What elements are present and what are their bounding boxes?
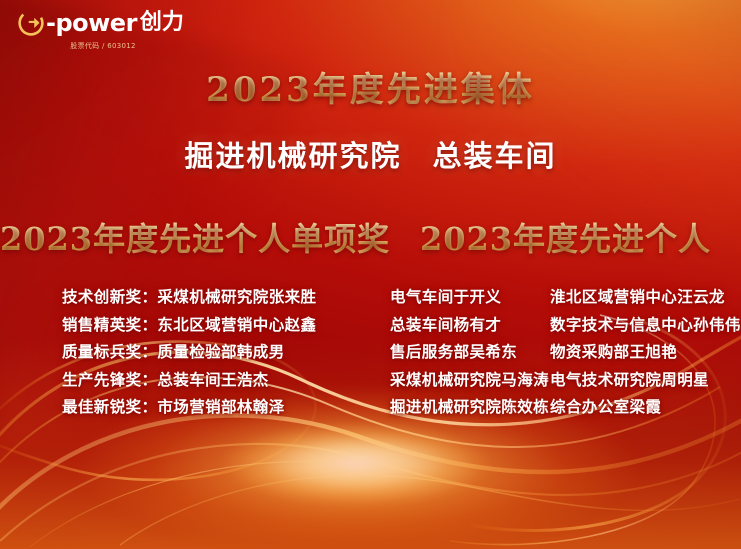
section-heading-special-award: 2023年度先进个人单项奖	[0, 214, 390, 260]
section-heading-individual: 2023年度先进个人	[390, 214, 741, 260]
individual-name-b: 数字技术与信息中心孙伟伟	[550, 311, 741, 339]
individual-award-list: 电气车间于开义淮北区域营销中心汪云龙 总装车间杨有才数字技术与信息中心孙伟伟 售…	[390, 283, 741, 421]
award-name: 技术创新奖：	[62, 287, 157, 306]
brand-wordmark: -power	[46, 11, 137, 35]
award-name: 最佳新锐奖：	[62, 397, 157, 416]
individual-name-a: 掘进机械研究院陈效栋	[390, 393, 550, 421]
individual-name-b: 物资采购部王旭艳	[550, 338, 741, 366]
list-item: 最佳新锐奖：市场营销部林翰泽	[62, 393, 390, 421]
award-recipient: 东北区域营销中心赵鑫	[157, 315, 316, 334]
list-item: 质量标兵奖：质量检验部韩成男	[62, 338, 390, 366]
individual-name-a: 售后服务部吴希东	[390, 338, 550, 366]
award-name: 生产先锋奖：	[62, 370, 157, 389]
award-poster: -power 创力 股票代码 / 603012 2023年度先进集体 掘进机械研…	[0, 0, 741, 549]
award-lists: 技术创新奖：采煤机械研究院张来胜 销售精英奖：东北区域营销中心赵鑫 质量标兵奖：…	[0, 283, 741, 421]
award-recipient: 总装车间王浩杰	[157, 370, 268, 389]
list-item: 总装车间杨有才数字技术与信息中心孙伟伟	[390, 311, 741, 339]
individual-name-a: 电气车间于开义	[390, 283, 550, 311]
individual-name-b: 淮北区域营销中心汪云龙	[550, 283, 741, 311]
individual-name-a: 总装车间杨有才	[390, 311, 550, 339]
page-subtitle: 掘进机械研究院 总装车间	[0, 133, 741, 175]
award-name: 销售精英奖：	[62, 315, 157, 334]
list-item: 销售精英奖：东北区域营销中心赵鑫	[62, 311, 390, 339]
special-award-list: 技术创新奖：采煤机械研究院张来胜 销售精英奖：东北区域营销中心赵鑫 质量标兵奖：…	[0, 283, 390, 421]
section-headings: 2023年度先进个人单项奖 2023年度先进个人	[0, 214, 741, 260]
award-recipient: 采煤机械研究院张来胜	[157, 287, 316, 306]
page-title: 2023年度先进集体	[0, 62, 741, 111]
list-item: 售后服务部吴希东物资采购部王旭艳	[390, 338, 741, 366]
individual-name-b: 电气技术研究院周明星	[550, 366, 741, 394]
list-item: 电气车间于开义淮北区域营销中心汪云龙	[390, 283, 741, 311]
award-recipient: 质量检验部韩成男	[157, 342, 284, 361]
individual-name-b: 综合办公室梁霞	[550, 393, 741, 421]
brand-wordmark-cn: 创力	[140, 12, 184, 34]
c-power-circle-icon	[18, 10, 44, 36]
individual-name-a: 采煤机械研究院马海涛	[390, 366, 550, 394]
award-recipient: 市场营销部林翰泽	[157, 397, 284, 416]
list-item: 生产先锋奖：总装车间王浩杰	[62, 366, 390, 394]
list-item: 采煤机械研究院马海涛电气技术研究院周明星	[390, 366, 741, 394]
brand-logo: -power 创力 股票代码 / 603012	[18, 10, 188, 51]
stock-code: 股票代码 / 603012	[18, 41, 188, 51]
list-item: 掘进机械研究院陈效栋综合办公室梁霞	[390, 393, 741, 421]
list-item: 技术创新奖：采煤机械研究院张来胜	[62, 283, 390, 311]
award-name: 质量标兵奖：	[62, 342, 157, 361]
